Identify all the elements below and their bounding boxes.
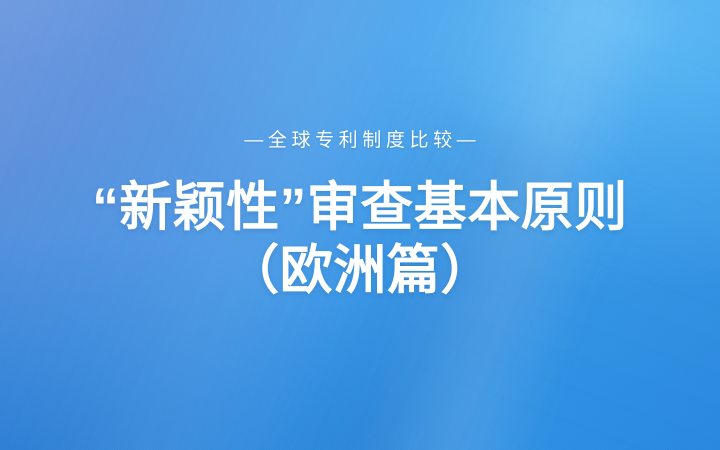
title-card: —全球专利制度比较— “新颖性”审查基本原则 （欧洲篇）	[0, 0, 720, 450]
series-eyebrow-label: —全球专利制度比较—	[240, 131, 481, 150]
page-title-line-1: “新颖性”审查基本原则	[92, 176, 628, 239]
page-title: “新颖性”审查基本原则 （欧洲篇）	[92, 176, 628, 302]
title-card-content: —全球专利制度比较— “新颖性”审查基本原则 （欧洲篇）	[0, 0, 720, 450]
page-title-line-2: （欧洲篇）	[92, 239, 628, 302]
